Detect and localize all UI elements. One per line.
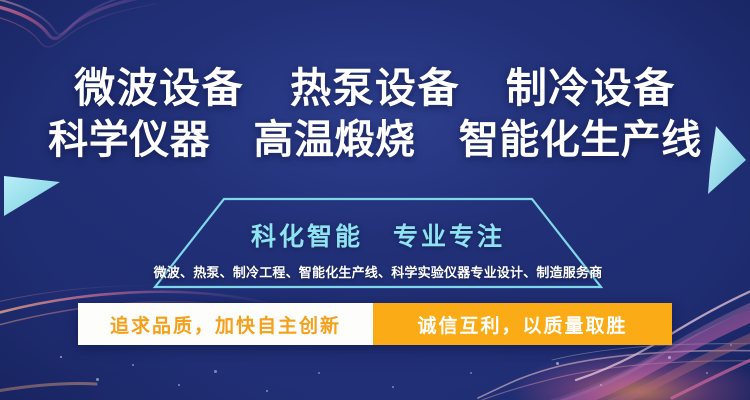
sparkle-particle — [392, 386, 394, 388]
tagline-pill-quality-label: 追求品质，加快自主创新 — [110, 311, 341, 338]
promo-banner: 微波设备 热泵设备 制冷设备 科学仪器 高温煅烧 智能化生产线 科化智能 专业专… — [0, 0, 750, 400]
headline-term-microwave: 微波设备 — [74, 65, 244, 111]
slogan-right: 专业专注 — [393, 217, 505, 253]
headline-term-calcination: 高温煅烧 — [254, 118, 416, 162]
headline-term-refrigeration: 制冷设备 — [506, 65, 676, 111]
headline-line-1: 微波设备 热泵设备 制冷设备 — [0, 62, 750, 114]
sparkle-particle — [706, 372, 708, 374]
sparkle-particle — [214, 370, 217, 373]
sparkle-particle — [318, 372, 320, 374]
sparkle-particle — [600, 384, 602, 386]
slogan-frame: 科化智能 专业专注 微波、热泵、制冷工程、智能化生产线、科学实验仪器专业设计、制… — [152, 196, 604, 290]
sparkle-particle — [668, 356, 671, 359]
sparkle-particle — [132, 364, 134, 366]
sparkle-particle — [556, 362, 559, 365]
headline-term-instruments: 科学仪器 — [48, 118, 210, 162]
service-scope-text: 微波、热泵、制冷工程、智能化生产线、科学实验仪器专业设计、制造服务商 — [154, 262, 603, 281]
sparkle-particle — [470, 372, 472, 374]
headline-term-heatpump: 热泵设备 — [290, 65, 460, 111]
sparkle-particle — [60, 356, 62, 358]
tagline-pill-quality[interactable]: 追求品质，加快自主创新 — [78, 303, 373, 345]
tagline-pill-integrity-label: 诚信互利，以质量取胜 — [417, 311, 627, 338]
triangle-arrow-right-icon — [2, 172, 62, 220]
headline-line-2: 科学仪器 高温煅烧 智能化生产线 — [0, 114, 750, 166]
headline-term-smartline: 智能化生产线 — [459, 118, 702, 162]
tagline-banner-group: 追求品质，加快自主创新 诚信互利，以质量取胜 — [78, 303, 672, 345]
tagline-pill-integrity[interactable]: 诚信互利，以质量取胜 — [373, 303, 672, 345]
slogan-row: 科化智能 专业专注 — [251, 217, 505, 253]
sparkle-particle — [178, 384, 180, 386]
headline-block: 微波设备 热泵设备 制冷设备 科学仪器 高温煅烧 智能化生产线 — [0, 62, 750, 166]
slogan-frame-content: 科化智能 专业专注 微波、热泵、制冷工程、智能化生产线、科学实验仪器专业设计、制… — [152, 196, 604, 290]
slogan-left: 科化智能 — [251, 217, 363, 253]
sparkle-particle — [96, 378, 99, 381]
sparkle-particle — [730, 344, 732, 346]
sparkle-particle — [266, 390, 268, 392]
